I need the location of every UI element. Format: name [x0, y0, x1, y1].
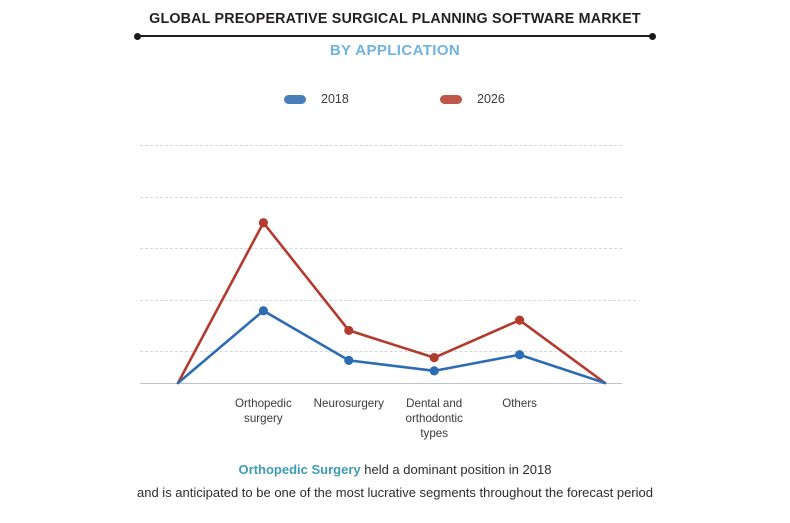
chart-legend: 2018 2026: [140, 88, 640, 112]
page-title: GLOBAL PREOPERATIVE SURGICAL PLANNING SO…: [0, 11, 790, 27]
x-axis-labels: Orthopedic surgery Neurosurgery Dental a…: [140, 396, 622, 444]
legend-label-2026: 2026: [477, 92, 505, 106]
series-markers-2026: [259, 218, 524, 362]
page-subtitle: BY APPLICATION: [0, 42, 790, 59]
caption-highlight: Orthopedic Surgery: [239, 462, 361, 477]
data-point-2018-2: [344, 356, 353, 365]
data-point-2018-3: [430, 366, 439, 375]
legend-item-2018[interactable]: 2018: [284, 88, 349, 110]
data-point-2018-1: [259, 306, 268, 315]
caption-line-1: Orthopedic Surgery held a dominant posit…: [0, 458, 790, 481]
legend-swatch-icon-2026: [440, 95, 462, 104]
data-point-2018-4: [515, 350, 524, 359]
title-divider: [137, 35, 653, 37]
chart-figure: GLOBAL PREOPERATIVE SURGICAL PLANNING SO…: [0, 0, 790, 523]
series-lines: [140, 140, 622, 386]
data-point-2026-2: [344, 326, 353, 335]
x-axis-label-line: types: [379, 426, 489, 441]
data-point-2026-3: [430, 353, 439, 362]
caption-line-1-rest: held a dominant position in 2018: [361, 462, 552, 477]
x-axis-label-line: Others: [465, 396, 575, 411]
x-axis-label-line: orthodontic: [379, 411, 489, 426]
x-axis-label-line: surgery: [208, 411, 318, 426]
series-line-2026: [178, 218, 605, 383]
data-point-2026-4: [515, 316, 524, 325]
chart-caption: Orthopedic Surgery held a dominant posit…: [0, 458, 790, 504]
plot-area: [140, 140, 622, 386]
legend-label-2018: 2018: [321, 92, 349, 106]
legend-swatch-icon-2018: [284, 95, 306, 104]
x-axis-label-others: Others: [465, 396, 575, 411]
data-point-2026-1: [259, 218, 268, 227]
caption-line-2: and is anticipated to be one of the most…: [0, 481, 790, 504]
legend-item-2026[interactable]: 2026: [440, 88, 505, 110]
